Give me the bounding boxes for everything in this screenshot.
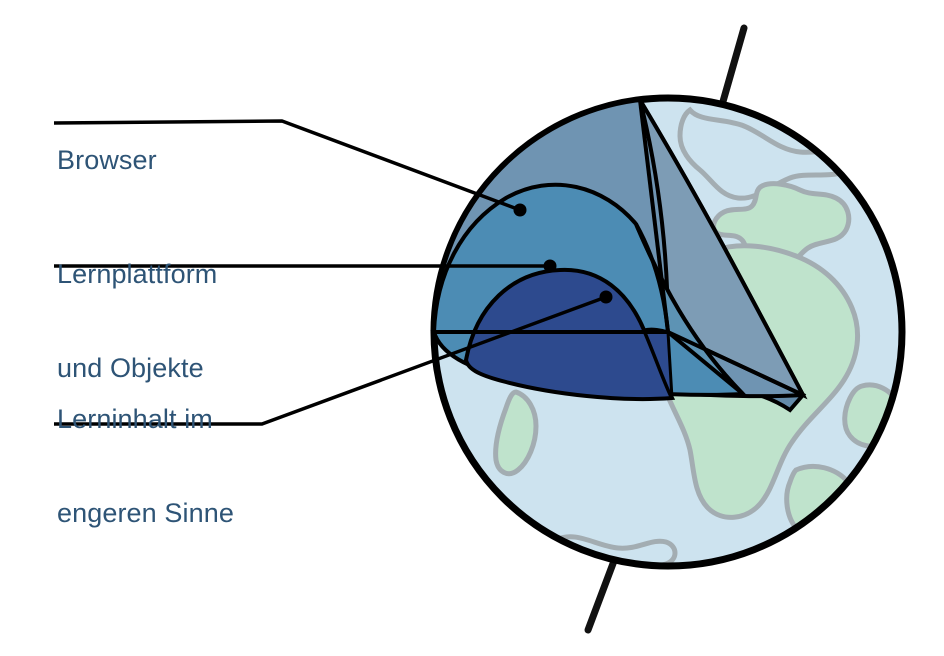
callout-label-lerninhalt: Lerninhalt im engeren Sinne — [57, 341, 234, 592]
callout-lerninhalt-line-2: engeren Sinne — [57, 498, 234, 529]
callout-lernplattform-line-1: Lernplattform — [57, 259, 217, 290]
diagram-canvas: Browser Lernplattform und Objekte Lernin… — [0, 0, 944, 656]
callout-lerninhalt-line-1: Lerninhalt im — [57, 404, 234, 435]
callout-browser-line-1: Browser — [57, 145, 157, 176]
